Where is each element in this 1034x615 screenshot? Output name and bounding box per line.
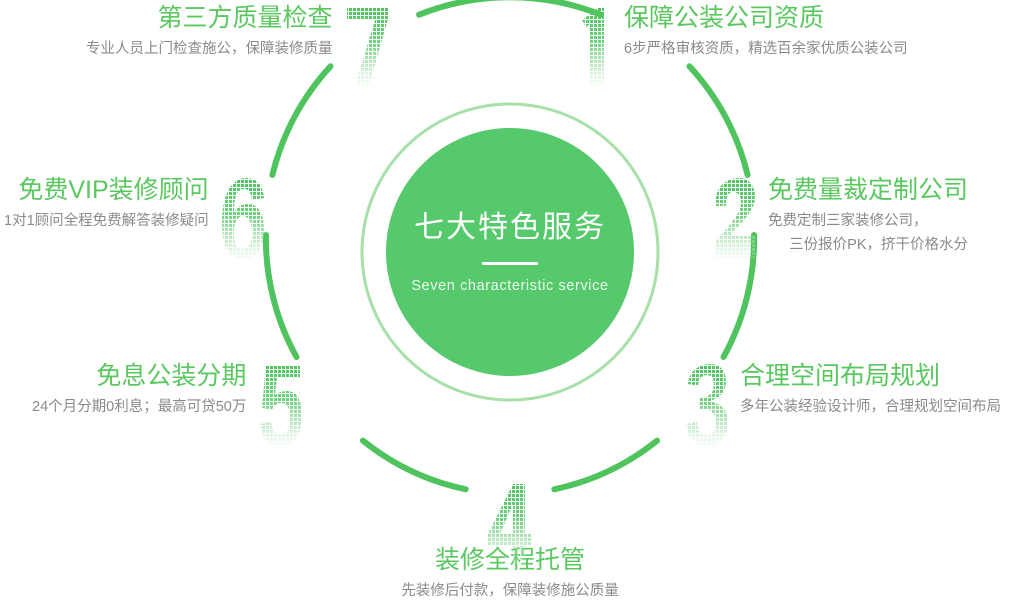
service-item-4[interactable]: 装修全程托管 先装修后付款，保障装修施公质量: [402, 482, 618, 602]
service-item-7-desc-line-1: 专业人员上门检查施公，保障装修质量: [86, 38, 333, 60]
center-subtitle: Seven characteristic service: [411, 278, 608, 294]
service-item-3-texts: 合理空间布局规划 多年公装经验设计师，合理规划空间布局: [740, 362, 1001, 418]
service-item-5-title: 免息公装分期: [96, 362, 246, 390]
numeral-3-icon: [684, 362, 728, 448]
service-item-6-title: 免费VIP装修顾问: [18, 176, 208, 204]
service-item-3[interactable]: 合理空间布局规划 多年公装经验设计师，合理规划空间布局: [684, 362, 1001, 448]
service-item-1[interactable]: 保障公装公司资质 6步严格审核资质，精选百余家优质公装公司: [578, 4, 908, 90]
numeral-1-icon: [578, 4, 612, 90]
center-hub: 七大特色服务 Seven characteristic service: [386, 128, 634, 376]
service-item-3-title: 合理空间布局规划: [740, 362, 940, 390]
service-item-6-texts: 免费VIP装修顾问 1对1顾问全程免费解答装修疑问: [4, 176, 209, 232]
service-item-5-texts: 免息公装分期 24个月分期0利息；最高可贷50万: [32, 362, 246, 418]
service-item-1-desc-line-1: 6步严格审核资质，精选百余家优质公装公司: [624, 38, 908, 60]
service-item-4-desc-line-1: 先装修后付款，保障装修施公质量: [401, 580, 619, 602]
service-item-6[interactable]: 免费VIP装修顾问 1对1顾问全程免费解答装修疑问: [4, 176, 265, 262]
service-item-5-desc-line-1: 24个月分期0利息；最高可贷50万: [32, 396, 246, 418]
numeral-4-icon: [488, 482, 532, 544]
arc-segment-5-6: [266, 235, 297, 357]
service-item-2-desc-line-2: 三份报价PK，挤干价格水分: [768, 234, 968, 256]
numeral-6-icon: [221, 176, 265, 262]
service-item-6-desc-line-1: 1对1顾问全程免费解答装修疑问: [4, 210, 209, 232]
service-item-7-title: 第三方质量检查: [157, 4, 332, 32]
service-item-3-desc-line-1: 多年公装经验设计师，合理规划空间布局: [740, 396, 1001, 418]
numeral-7-icon: [345, 4, 389, 90]
infographic-canvas: 七大特色服务 Seven characteristic service 保障公装…: [0, 0, 1034, 615]
service-item-2-texts: 免费量裁定制公司 免费定制三家装修公司， 三份报价PK，挤干价格水分: [768, 176, 968, 257]
center-title: 七大特色服务: [414, 210, 606, 246]
service-item-7[interactable]: 第三方质量检查 专业人员上门检查施公，保障装修质量: [86, 4, 389, 90]
center-divider: [482, 262, 538, 265]
service-item-7-texts: 第三方质量检查 专业人员上门检查施公，保障装修质量: [86, 4, 333, 60]
service-item-2-title: 免费量裁定制公司: [768, 176, 968, 204]
numeral-5-icon: [258, 362, 302, 448]
service-item-1-texts: 保障公装公司资质 6步严格审核资质，精选百余家优质公装公司: [624, 4, 908, 60]
service-item-2-desc-line-1: 免费定制三家装修公司，: [768, 210, 968, 232]
service-item-1-title: 保障公装公司资质: [624, 4, 824, 32]
numeral-2-icon: [712, 176, 756, 262]
service-item-5[interactable]: 免息公装分期 24个月分期0利息；最高可贷50万: [32, 362, 302, 448]
service-item-2[interactable]: 免费量裁定制公司 免费定制三家装修公司， 三份报价PK，挤干价格水分: [712, 176, 968, 262]
arc-segment-7-1: [419, 0, 601, 15]
